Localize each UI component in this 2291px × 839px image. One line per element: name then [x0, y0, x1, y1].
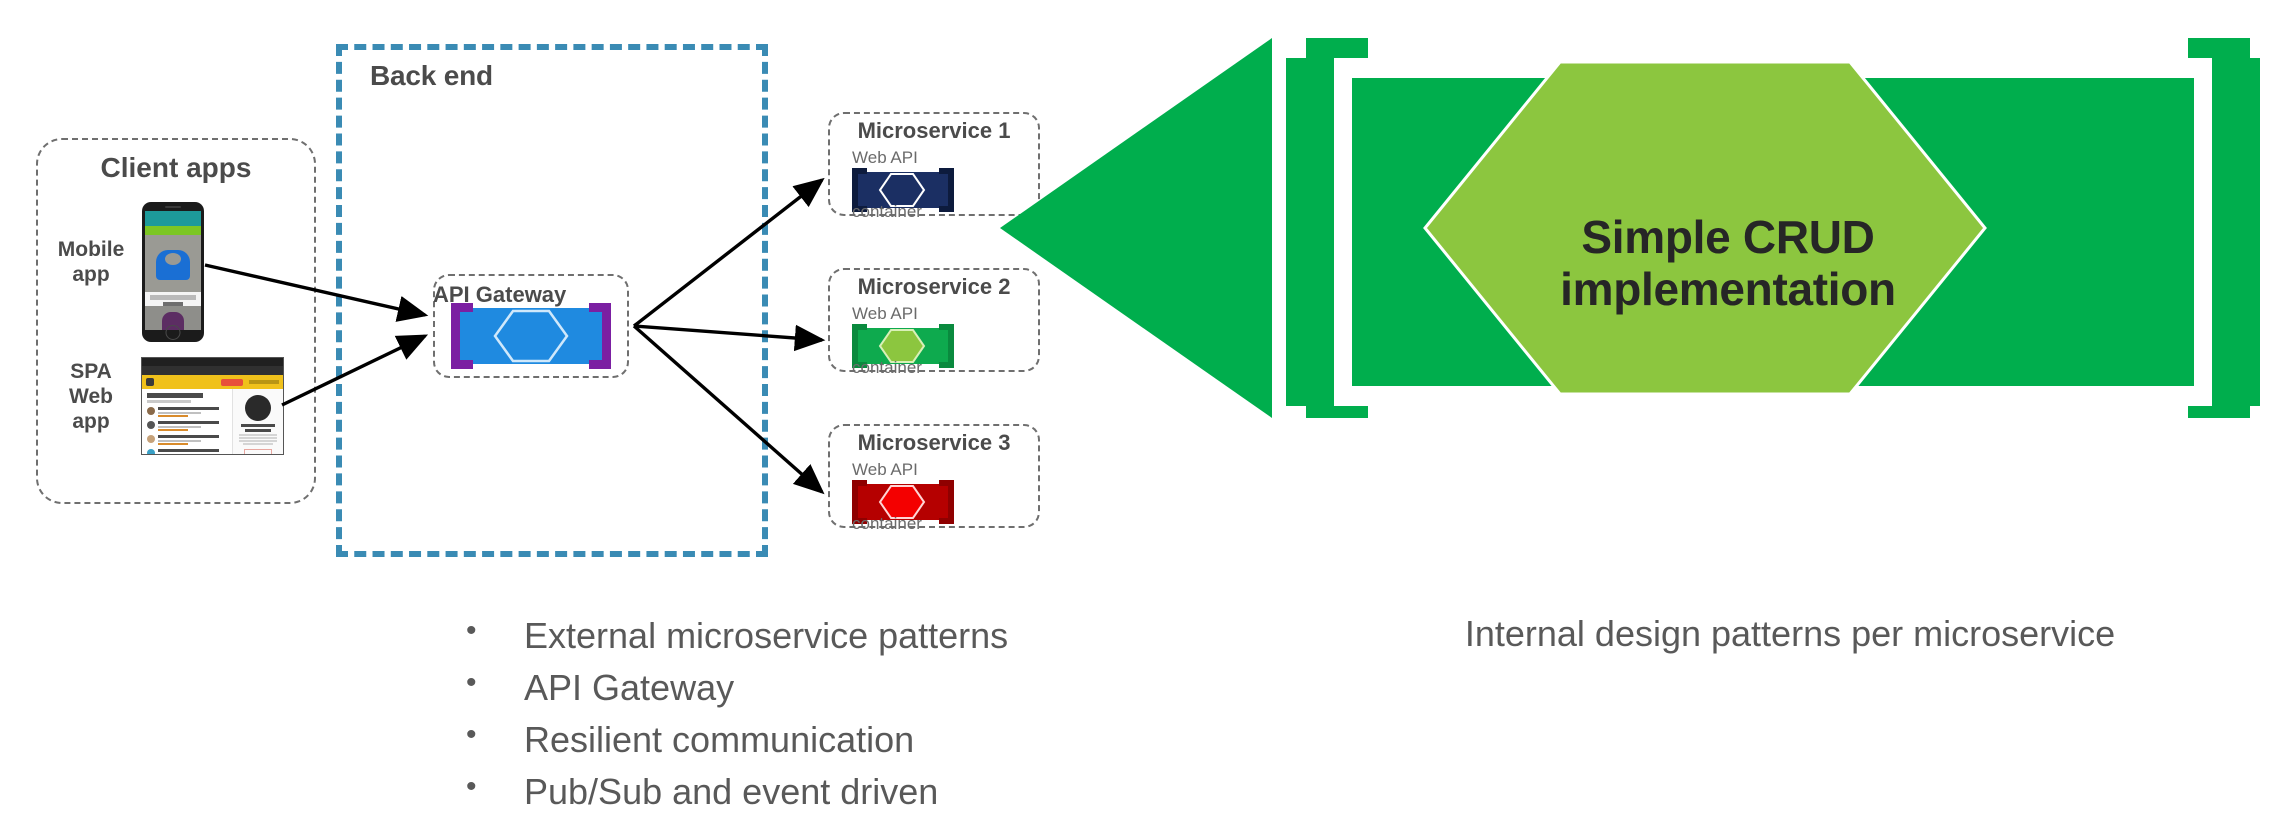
sidebar-button	[244, 449, 271, 455]
callout-left-strip	[1286, 58, 1334, 406]
right-caption: Internal design patterns per microservic…	[1290, 613, 2290, 655]
microservice-3-title: Microservice 3	[828, 430, 1040, 456]
list-item: Resilient communication	[466, 722, 1366, 758]
phone-speaker	[165, 206, 181, 208]
news-heading	[147, 393, 203, 398]
phone-action-bar	[145, 226, 201, 235]
sidebar-badge-icon	[245, 395, 271, 421]
crud-callout-text: Simple CRUD implementation	[1468, 212, 1988, 315]
dotnet-hoodie-graphic	[156, 250, 190, 280]
bullet-list: External microservice patterns API Gatew…	[466, 618, 1366, 810]
microservice-3-container-label: container	[852, 514, 922, 534]
diagram-canvas: Back end Client apps Mobileapp SPAWebapp	[0, 0, 2291, 839]
sidebar-column	[232, 389, 283, 455]
microservice-2-container-label: container	[852, 358, 922, 378]
backend-title: Back end	[370, 60, 493, 92]
microservice-3-webapi-label: Web API	[852, 460, 918, 480]
api-gateway-container-icon	[449, 303, 613, 369]
avatar	[147, 435, 155, 443]
news-subheading	[147, 400, 191, 403]
callout-arrow-tip	[1000, 38, 1272, 418]
callout-right-strip	[2212, 58, 2260, 406]
list-item	[147, 421, 227, 431]
spa-browser-mockup	[141, 357, 284, 455]
crud-line-2: implementation	[1468, 264, 1988, 316]
mobile-app-label: Mobileapp	[46, 238, 136, 288]
news-feed-column	[142, 389, 232, 455]
header-nav-links	[249, 380, 279, 384]
site-logo-icon	[146, 378, 154, 386]
callout-inner-gap-right	[2194, 58, 2212, 406]
list-item: API Gateway	[466, 670, 1366, 706]
pattern-bullet-list: External microservice patterns API Gatew…	[466, 618, 1366, 826]
list-item: External microservice patterns	[466, 618, 1366, 654]
list-item	[147, 449, 227, 455]
microservice-2-webapi-label: Web API	[852, 304, 918, 324]
avatar	[147, 421, 155, 429]
phone-nav-row	[145, 218, 201, 226]
crud-line-1: Simple CRUD	[1468, 212, 1988, 264]
microservice-1-webapi-label: Web API	[852, 148, 918, 168]
browser-content	[142, 389, 283, 455]
avatar	[147, 407, 155, 415]
microservice-1-container-label: container	[852, 202, 922, 222]
phone-product-image	[145, 235, 201, 292]
browser-toolbar	[142, 366, 283, 375]
browser-title-bar	[142, 358, 283, 366]
list-item	[147, 435, 227, 445]
avatar	[147, 449, 155, 455]
site-header-bar	[142, 375, 283, 389]
spa-web-app-label: SPAWebapp	[46, 360, 136, 434]
header-cta-button	[221, 379, 243, 386]
client-apps-title: Client apps	[36, 152, 316, 184]
callout-inner-gap-left	[1334, 58, 1352, 406]
list-item	[147, 407, 227, 417]
phone-home-button	[166, 325, 181, 340]
list-item: Pub/Sub and event driven	[466, 774, 1366, 810]
phone-product-caption	[145, 292, 201, 306]
phone-screen	[145, 211, 201, 330]
mobile-phone-mockup	[142, 202, 204, 342]
phone-status-bar	[145, 211, 201, 218]
